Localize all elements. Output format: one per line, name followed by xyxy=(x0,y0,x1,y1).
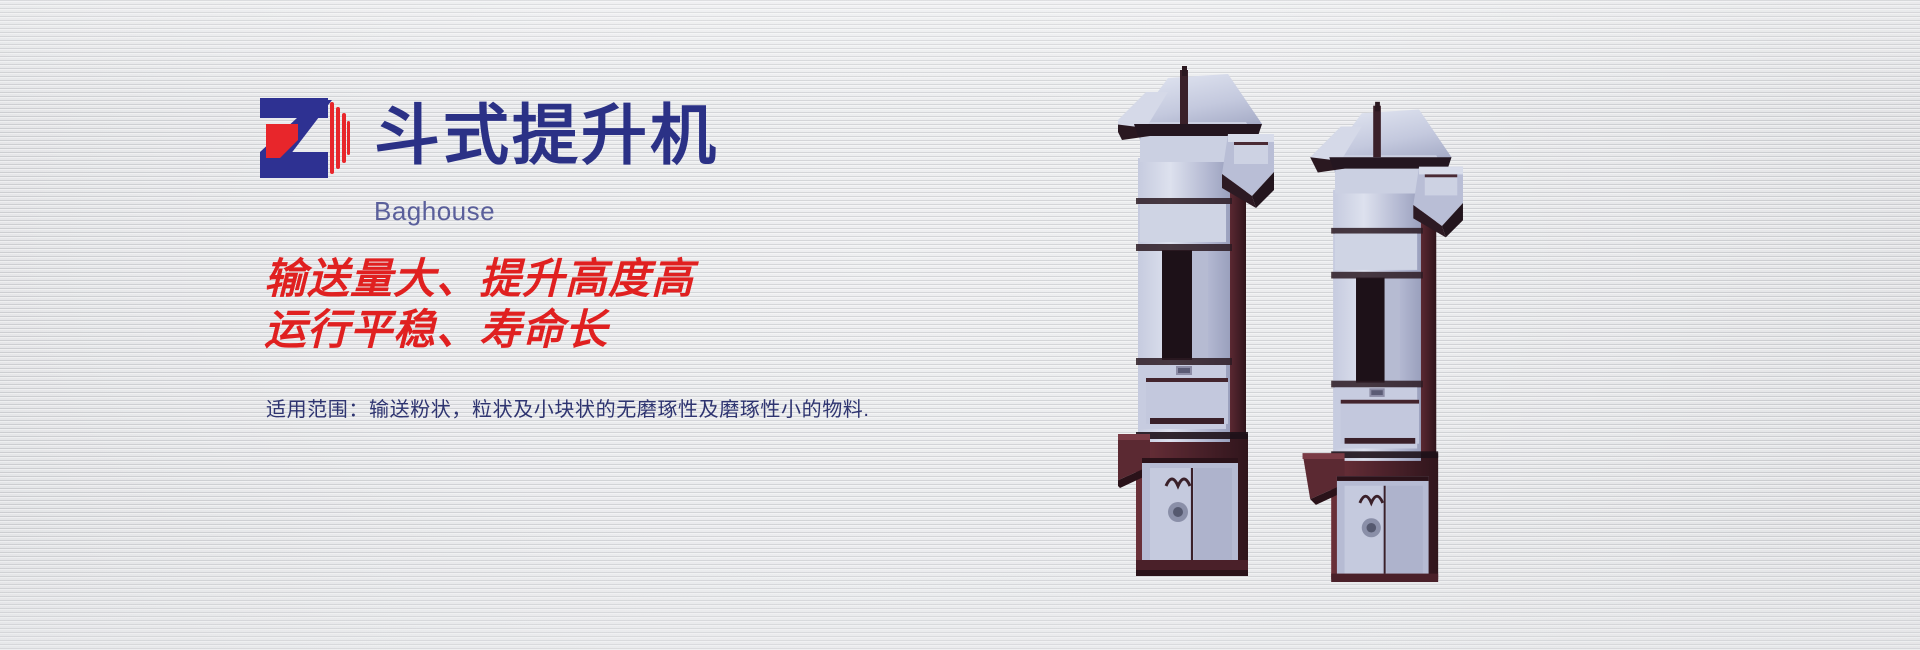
bucket-elevator-photo xyxy=(1118,62,1538,582)
title-row: 斗式提升机 xyxy=(258,82,958,190)
promo-banner: 斗式提升机 Baghouse 输送量大、提升高度高 运行平稳、寿命长 适用范围：… xyxy=(0,0,1920,650)
elevator-unit-1 xyxy=(1118,66,1274,576)
banner-text-block: 斗式提升机 Baghouse 输送量大、提升高度高 运行平稳、寿命长 适用范围：… xyxy=(258,82,958,422)
elevator-unit-2 xyxy=(1303,102,1463,582)
slogan-line-2: 运行平稳、寿命长 xyxy=(264,304,958,355)
slogan-line-1: 输送量大、提升高度高 xyxy=(264,253,958,304)
page-title: 斗式提升机 xyxy=(374,103,719,169)
description-text: 适用范围：输送粉状，粒状及小块状的无磨琢性及磨琢性小的物料. xyxy=(266,393,958,422)
company-z-logo-icon xyxy=(258,96,350,180)
slogan-block: 输送量大、提升高度高 运行平稳、寿命长 xyxy=(264,253,958,355)
subtitle-baghouse: Baghouse xyxy=(374,196,958,227)
